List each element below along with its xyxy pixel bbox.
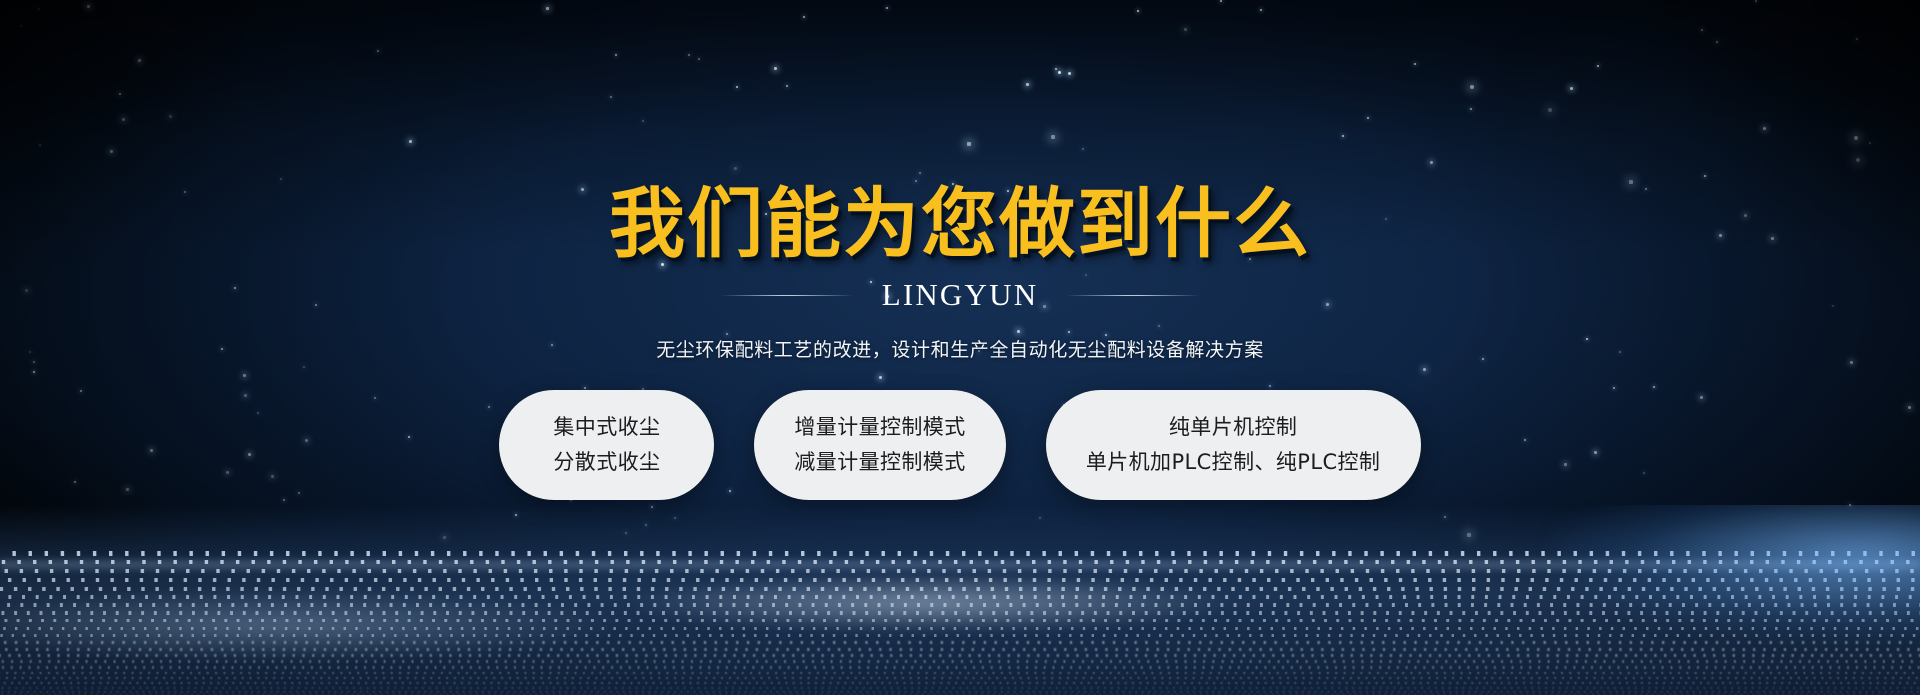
divider-line-left [720, 295, 854, 296]
divider-line-right [1066, 295, 1200, 296]
feature-card-line: 单片机加PLC控制、纯PLC控制 [1086, 452, 1380, 473]
feature-card-line: 集中式收尘 [553, 417, 660, 438]
feature-card-metering-mode[interactable]: 增量计量控制模式 减量计量控制模式 [754, 390, 1005, 500]
feature-card-line: 纯单片机控制 [1169, 417, 1297, 438]
feature-card-line: 分散式收尘 [553, 452, 660, 473]
feature-card-line: 减量计量控制模式 [794, 452, 965, 473]
hero-banner: 我们能为您做到什么 LINGYUN 无尘环保配料工艺的改进，设计和生产全自动化无… [0, 0, 1920, 695]
feature-card-line: 增量计量控制模式 [794, 417, 965, 438]
banner-description: 无尘环保配料工艺的改进，设计和生产全自动化无尘配料设备解决方案 [656, 335, 1264, 362]
banner-content: 我们能为您做到什么 LINGYUN 无尘环保配料工艺的改进，设计和生产全自动化无… [0, 0, 1920, 695]
brand-name-en: LINGYUN [882, 277, 1039, 313]
feature-card-dust-collection[interactable]: 集中式收尘 分散式收尘 [499, 390, 714, 500]
banner-headline: 我们能为您做到什么 [609, 184, 1311, 263]
feature-card-control-system[interactable]: 纯单片机控制 单片机加PLC控制、纯PLC控制 [1046, 390, 1421, 500]
feature-card-list: 集中式收尘 分散式收尘 增量计量控制模式 减量计量控制模式 纯单片机控制 单片机… [499, 390, 1420, 500]
brand-divider-row: LINGYUN [0, 277, 1920, 313]
